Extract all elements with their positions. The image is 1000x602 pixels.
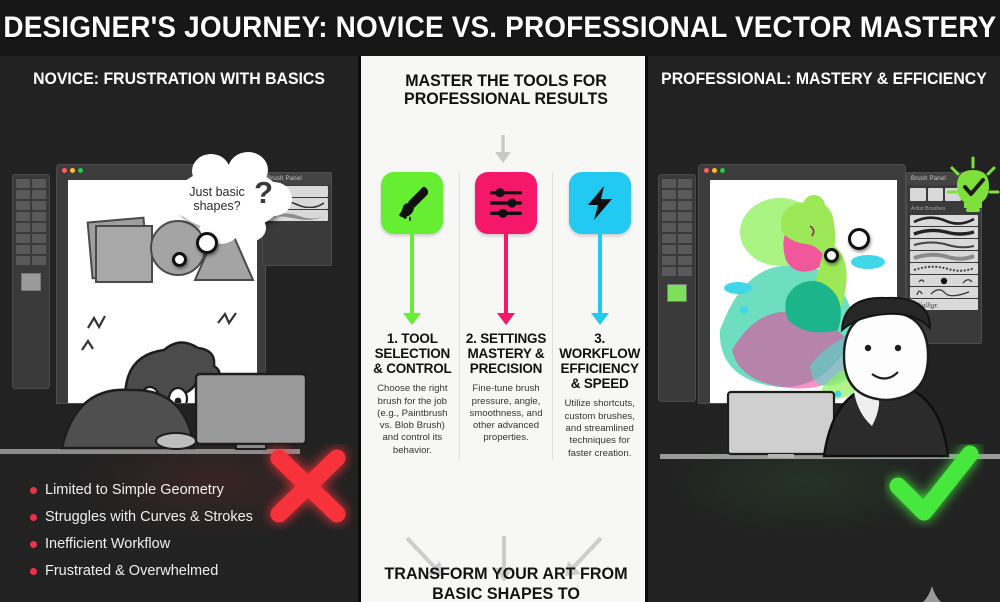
step-1-connector (410, 234, 414, 314)
list-item-label: Struggles with Curves & Strokes (45, 509, 253, 525)
bullet-dot-icon (30, 514, 37, 521)
step-2-body: Fine-tune brush pressure, angle, smoothn… (465, 383, 548, 444)
thought-dot-large (848, 228, 870, 250)
novice-bullet-list: Limited to Simple Geometry Struggles wit… (30, 482, 253, 590)
list-item-label: Limited to Simple Geometry (45, 482, 224, 498)
bullet-dot-icon (30, 487, 37, 494)
novice-thought-bubble: Just basicshapes? ? (176, 168, 282, 230)
step-column-1: 1. TOOL SELECTION & CONTROL Choose the r… (366, 172, 459, 460)
infographic-root: DESIGNER'S JOURNEY: NOVICE VS. PROFESSIO… (0, 0, 1000, 602)
question-mark-icon: ? (254, 177, 273, 208)
bubble-lobe (232, 214, 266, 242)
check-mark-icon (884, 444, 984, 528)
lightning-bolt-icon (580, 183, 620, 223)
bullet-dot-icon (30, 568, 37, 575)
step-column-3: 3. WORKFLOW EFFICIENCY & SPEED Utilize s… (552, 172, 646, 460)
novice-panel: NOVICE: FRUSTRATION WITH BASICS (0, 56, 358, 602)
step-3-body: Utilize shortcuts, custom brushes, and s… (558, 398, 641, 459)
page-title-bar: DESIGNER'S JOURNEY: NOVICE VS. PROFESSIO… (0, 0, 1000, 56)
list-item: Frustrated & Overwhelmed (30, 563, 253, 579)
step-2-arrowhead-icon (497, 313, 515, 325)
novice-bullets: Limited to Simple Geometry Struggles wit… (30, 482, 253, 579)
step-3-icon-tile[interactable] (569, 172, 631, 234)
step-1-arrowhead-icon (403, 313, 421, 325)
thought-dot-small (172, 252, 187, 267)
professional-panel: PROFESSIONAL: MASTERY & EFFICIENCY (648, 56, 1000, 602)
step-1-body: Choose the right brush for the job (e.g.… (371, 383, 454, 457)
x-mark-icon (263, 444, 353, 530)
bubble-lobe (192, 154, 230, 188)
step-2-connector (504, 234, 508, 314)
step-2-title: 2. SETTINGS MASTERY & PRECISION (465, 331, 548, 376)
list-item-label: Frustrated & Overwhelmed (45, 563, 218, 579)
list-item: Limited to Simple Geometry (30, 482, 253, 498)
down-arrow-icon (492, 134, 514, 164)
step-3-title: 3. WORKFLOW EFFICIENCY & SPEED (558, 331, 641, 391)
sliders-icon (486, 183, 526, 223)
paintbrush-icon (392, 183, 432, 223)
step-3-arrowhead-icon (591, 313, 609, 325)
center-steps-panel: MASTER THE TOOLS FOR PROFESSIONAL RESULT… (358, 56, 648, 602)
pro-character-head (842, 298, 930, 400)
list-item: Inefficient Workflow (30, 536, 253, 552)
thought-dot-large (196, 232, 218, 254)
steps-columns: 1. TOOL SELECTION & CONTROL Choose the r… (366, 172, 646, 460)
step-1-icon-tile[interactable] (381, 172, 443, 234)
sparkle-icon (910, 584, 954, 602)
bullet-dot-icon (30, 541, 37, 548)
step-column-2: 2. SETTINGS MASTERY & PRECISION Fine-tun… (459, 172, 553, 460)
page-title: DESIGNER'S JOURNEY: NOVICE VS. PROFESSIO… (3, 11, 996, 45)
step-2-icon-tile[interactable] (475, 172, 537, 234)
step-3-connector (598, 234, 602, 314)
center-panel-heading: MASTER THE TOOLS FOR PROFESSIONAL RESULT… (375, 72, 637, 109)
list-item-label: Inefficient Workflow (45, 536, 170, 552)
center-cta-text: TRANSFORM YOUR ART FROM BASIC SHAPES TO … (376, 564, 636, 602)
lightbulb-check-icon (944, 154, 1000, 220)
step-1-title: 1. TOOL SELECTION & CONTROL (371, 331, 454, 376)
list-item: Struggles with Curves & Strokes (30, 509, 253, 525)
thought-dot-small (824, 248, 839, 263)
